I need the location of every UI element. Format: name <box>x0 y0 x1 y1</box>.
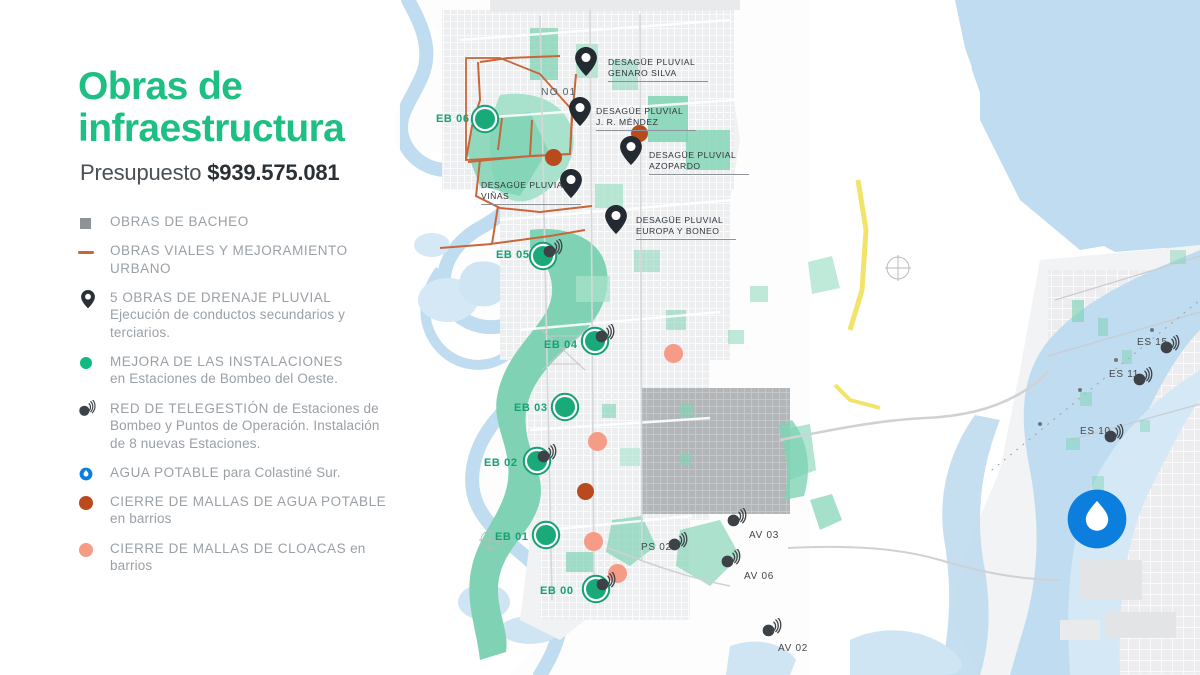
telemetry-icon <box>78 401 102 421</box>
budget-amount: $939.575.081 <box>207 160 339 185</box>
telemetry-point-marker[interactable] <box>760 618 786 643</box>
drainage-pin-marker[interactable] <box>605 205 627 239</box>
legend-item-primary: OBRAS DE BACHEO <box>110 213 398 230</box>
page-title: Obras de infraestructura <box>78 66 398 149</box>
legend-item-primary: CIERRE DE MALLAS DE AGUA POTABLE en barr… <box>110 493 398 528</box>
drainage-label-line1: DESAGÜE PLUVIAL <box>649 150 749 161</box>
pump-station-marker[interactable] <box>531 520 561 555</box>
sewer-mesh-dot[interactable] <box>588 432 607 451</box>
legend-item-5: AGUA POTABLE para Colastiné Sur. <box>78 464 398 481</box>
area-label-no-01: NO 01 <box>541 86 576 98</box>
telemetry-point-label: AV 02 <box>778 643 808 654</box>
drainage-label-underline <box>649 174 749 175</box>
legend-item-2: 5 OBRAS DE DRENAJE PLUVIALEjecución de c… <box>78 289 398 341</box>
telemetry-point-marker[interactable] <box>719 549 745 574</box>
legend-item-0: OBRAS DE BACHEO <box>78 213 398 230</box>
drainage-label-underline <box>636 239 736 240</box>
telemetry-icon[interactable] <box>593 324 619 349</box>
map-canvas[interactable]: EB 06EB 05EB 04EB 03EB 02EB 01EB 00PS 02… <box>380 0 1200 675</box>
telemetry-point-label: ES 10 <box>1080 426 1111 437</box>
square-icon <box>78 214 102 234</box>
legend-item-primary: OBRAS VIALES Y MEJORAMIENTO URBANO <box>110 242 398 277</box>
orange-dot-icon <box>78 494 102 514</box>
drainage-label-line2: VIÑAS <box>481 191 581 202</box>
map-graphic <box>380 0 1200 675</box>
sewer-mesh-dot[interactable] <box>584 532 603 551</box>
telemetry-point-label: PS 02 <box>641 542 672 553</box>
legend-item-1: OBRAS VIALES Y MEJORAMIENTO URBANO <box>78 242 398 277</box>
drainage-label: DESAGÜE PLUVIALAZOPARDO <box>649 150 749 175</box>
legend-item-primary: 5 OBRAS DE DRENAJE PLUVIAL <box>110 289 398 306</box>
budget-line: Presupuesto $939.575.081 <box>80 160 339 186</box>
drainage-label-line2: EUROPA Y BONEO <box>636 226 736 237</box>
telemetry-point-label: ES 11 <box>1109 369 1139 380</box>
legend-item-secondary: en Estaciones de Bombeo del Oeste. <box>110 370 398 388</box>
pump-station-marker[interactable] <box>470 104 500 139</box>
drainage-label-underline <box>596 130 696 131</box>
infographic-map-page: EB 06EB 05EB 04EB 03EB 02EB 01EB 00PS 02… <box>0 0 1200 675</box>
drainage-label-line1: DESAGÜE PLUVIAL <box>636 215 736 226</box>
drainage-label: DESAGÜE PLUVIALGENARO SILVA <box>608 57 708 82</box>
legend-list: OBRAS DE BACHEOOBRAS VIALES Y MEJORAMIEN… <box>78 213 398 586</box>
pump-station-label: EB 01 <box>495 531 529 543</box>
pump-station-label: EB 02 <box>484 457 518 469</box>
drainage-label-line2: AZOPARDO <box>649 161 749 172</box>
legend-item-primary: CIERRE DE MALLAS DE CLOACAS en barrios <box>110 540 398 575</box>
drainage-label: DESAGÜE PLUVIALJ. R. MÉNDEZ <box>596 106 696 131</box>
legend-item-secondary: Ejecución de conductos secundarios y ter… <box>110 306 398 341</box>
water-drop-logo <box>1065 487 1129 556</box>
telemetry-point-label: AV 03 <box>749 530 779 541</box>
drainage-pin-marker[interactable] <box>575 47 597 81</box>
legend-item-primary: MEJORA DE LAS INSTALACIONES <box>110 353 398 370</box>
legend-primary-main: CIERRE DE MALLAS DE CLOACAS <box>110 541 346 556</box>
drainage-label-line2: GENARO SILVA <box>608 68 708 79</box>
drainage-label-line1: DESAGÜE PLUVIAL <box>608 57 708 68</box>
drainage-pin-marker[interactable] <box>569 97 591 131</box>
title-line-2: infraestructura <box>78 108 398 150</box>
legend-primary-main: CIERRE DE MALLAS DE AGUA POTABLE <box>110 494 386 509</box>
drainage-label-underline <box>481 204 581 205</box>
legend-primary-rest: en barrios <box>110 511 172 526</box>
telemetry-icon[interactable] <box>535 444 561 469</box>
pump-station-label: EB 00 <box>540 585 574 597</box>
budget-label: Presupuesto <box>80 160 207 185</box>
pump-station-label: EB 03 <box>514 402 548 414</box>
telemetry-point-marker[interactable] <box>725 508 751 533</box>
map-pin-icon <box>78 290 102 310</box>
legend-item-primary: AGUA POTABLE para Colastiné Sur. <box>110 464 398 481</box>
pump-station-label: EB 04 <box>544 339 578 351</box>
green-dot-icon <box>78 354 102 374</box>
drainage-pin-marker[interactable] <box>620 136 642 170</box>
legend-item-6: CIERRE DE MALLAS DE AGUA POTABLE en barr… <box>78 493 398 528</box>
water-mesh-dot[interactable] <box>545 149 562 166</box>
telemetry-icon[interactable] <box>541 239 567 264</box>
line-icon <box>78 243 102 263</box>
pump-station-label: EB 06 <box>436 113 470 125</box>
water-drop-circle-icon <box>78 465 102 485</box>
info-panel: Obras de infraestructura Presupuesto $93… <box>0 0 400 675</box>
drainage-label-line2: J. R. MÉNDEZ <box>596 117 696 128</box>
title-line-1: Obras de <box>78 65 242 108</box>
drainage-label: DESAGÜE PLUVIALEUROPA Y BONEO <box>636 215 736 240</box>
pump-station-label: EB 05 <box>496 249 530 261</box>
legend-primary-main: AGUA POTABLE <box>110 465 219 480</box>
legend-primary-rest: para Colastiné Sur. <box>219 465 341 480</box>
telemetry-point-label: AV 06 <box>744 571 774 582</box>
telemetry-icon[interactable] <box>594 572 620 597</box>
salmon-dot-icon <box>78 541 102 561</box>
drainage-label-underline <box>608 81 708 82</box>
sewer-mesh-dot[interactable] <box>664 344 683 363</box>
legend-item-4: RED DE TELEGESTIÓN de Estaciones de Bomb… <box>78 400 398 452</box>
legend-primary-main: RED DE TELEGESTIÓN <box>110 401 269 416</box>
legend-item-7: CIERRE DE MALLAS DE CLOACAS en barrios <box>78 540 398 575</box>
legend-item-primary: RED DE TELEGESTIÓN de Estaciones de Bomb… <box>110 400 398 452</box>
legend-item-3: MEJORA DE LAS INSTALACIONESen Estaciones… <box>78 353 398 388</box>
drainage-label-line1: DESAGÜE PLUVIAL <box>596 106 696 117</box>
pump-station-marker[interactable] <box>550 392 580 427</box>
drainage-label-line1: DESAGÜE PLUVIAL <box>481 180 581 191</box>
water-mesh-dot[interactable] <box>577 483 594 500</box>
drainage-label: DESAGÜE PLUVIALVIÑAS <box>481 180 581 205</box>
telemetry-point-label: ES 15 <box>1137 337 1168 348</box>
